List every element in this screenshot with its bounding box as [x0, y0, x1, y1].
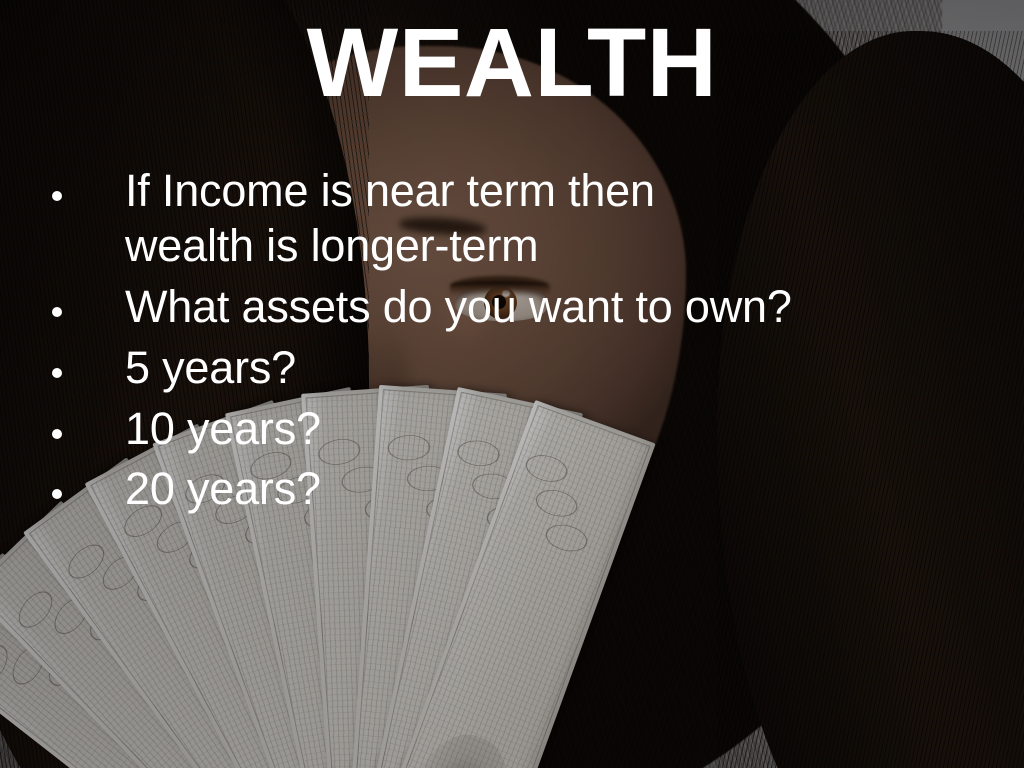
slide-title: WEALTH — [0, 14, 1024, 113]
bullet-dot-icon — [52, 489, 62, 499]
bullet-dot-icon — [52, 191, 62, 201]
bullet-text: 20 years? — [125, 462, 952, 517]
bullet-dot-icon — [52, 429, 62, 439]
bullet-text: If Income is near term then wealth is lo… — [125, 164, 745, 274]
presentation-slide: WEALTH If Income is near term then wealt… — [0, 0, 1024, 768]
bullet-dot-icon — [52, 368, 62, 378]
bullet-text: 10 years? — [125, 402, 952, 457]
slide-content: WEALTH If Income is near term then wealt… — [0, 0, 1024, 768]
bullet-dot-icon — [52, 307, 62, 317]
bullet-text: What assets do you want to own? — [125, 280, 952, 335]
list-item: 20 years? — [52, 462, 952, 517]
bullet-text: 5 years? — [125, 341, 952, 396]
list-item: 5 years? — [52, 341, 952, 396]
list-item: What assets do you want to own? — [52, 280, 952, 335]
list-item: If Income is near term then wealth is lo… — [52, 164, 952, 274]
bullet-list: If Income is near term then wealth is lo… — [52, 164, 952, 523]
list-item: 10 years? — [52, 402, 952, 457]
